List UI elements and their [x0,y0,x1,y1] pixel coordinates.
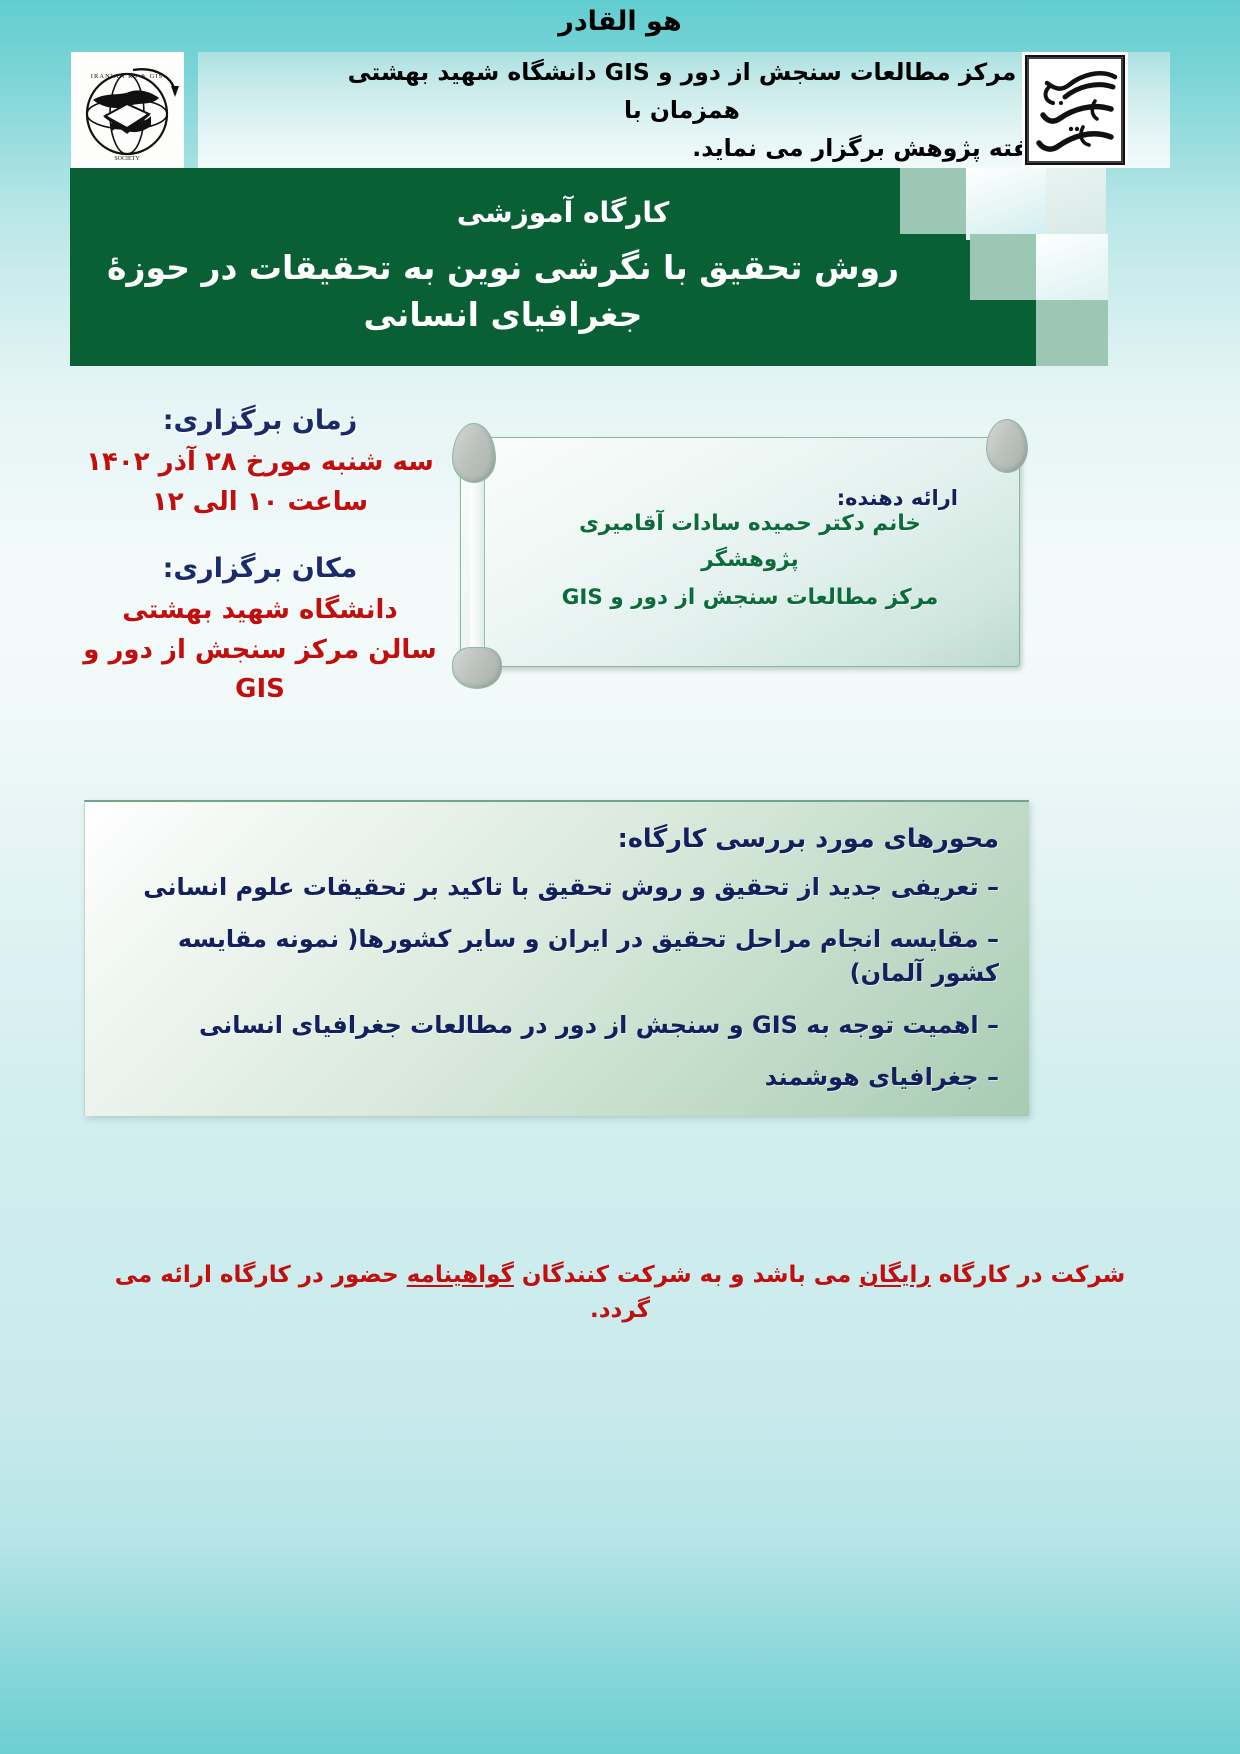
header-line-1: مرکز مطالعات سنجش از دور و GIS دانشگاه ش… [318,53,1046,129]
event-date: سه شنبه مورخ ۲۸ آذر ۱۴۰۲ [70,443,450,483]
schedule-block: زمان برگزاری: سه شنبه مورخ ۲۸ آذر ۱۴۰۲ س… [70,400,450,710]
decor-square-7 [1036,300,1108,366]
place-label: مکان برگزاری: [70,548,450,589]
presenter-organization: مرکز مطالعات سنجش از دور و GIS [498,579,1002,617]
nastaliq-calligraphy-icon [1027,57,1123,163]
header-announcement: مرکز مطالعات سنجش از دور و GIS دانشگاه ش… [312,52,1052,168]
decor-square-4 [970,234,1036,300]
topic-item: – اهمیت توجه به GIS و سنجش از دور در مطا… [115,1008,999,1042]
bismillah-text: هو القادر [0,6,1240,37]
workshop-title-block: کارگاه آموزشی روش تحقیق با نگرشی نوین به… [70,168,960,366]
time-label: زمان برگزاری: [70,400,450,441]
topic-item: – مقایسه انجام مراحل تحقیق در ایران و سا… [115,922,999,990]
topics-box: محورهای مورد بررسی کارگاه: – تعریفی جدید… [84,800,1029,1116]
presenter-info: ارائه دهنده: خانم دکتر حمیده سادات آقامی… [490,447,1002,655]
venue-line-2: سالن مرکز سنجش از دور و GIS [70,631,450,710]
topic-item: – جغرافیای هوشمند [115,1060,999,1094]
decor-square-6 [970,300,1036,366]
footer-free-word: رایگان [859,1262,930,1288]
university-logo-frame [1025,55,1125,165]
presenter-name: خانم دکتر حمیده سادات آقامیری [498,506,1002,541]
footer-note: شرکت در کارگاه رایگان می باشد و به شرکت … [0,1258,1240,1327]
workshop-kicker: کارگاه آموزشی [70,196,936,229]
iranian-rs-gis-society-logo: IRANIAN RS & GIS SOCIETY [71,52,184,168]
svg-text:SOCIETY: SOCIETY [114,156,140,162]
venue-line-1: دانشگاه شهید بهشتی [70,591,450,631]
decor-square-5 [1036,234,1108,300]
header-line-2: هفته پژوهش برگزار می نماید. [692,129,1046,167]
footer-part-1: شرکت در کارگاه [931,1262,1126,1288]
footer-part-2: می باشد و به شرکت کنندگان [514,1262,859,1288]
svg-text:IRANIAN RS & GIS: IRANIAN RS & GIS [91,73,163,80]
presenter-scroll: ارائه دهنده: خانم دکتر حمیده سادات آقامی… [450,415,1030,680]
event-hours: ساعت ۱۰ الی ۱۲ [70,483,450,523]
presenter-role: پژوهشگر [498,541,1002,579]
shahid-beheshti-university-logo [1022,52,1128,168]
decor-square-2 [966,168,1046,240]
workshop-title: روش تحقیق با نگرشی نوین به تحقیقات در حو… [70,245,936,339]
footer-certificate-word: گواهینامه [407,1262,514,1288]
globe-emblem-icon: IRANIAN RS & GIS SOCIETY [71,52,184,168]
decor-square-3 [1046,168,1106,234]
topic-item: – تعریفی جدید از تحقیق و روش تحقیق با تا… [115,870,999,904]
topics-title: محورهای مورد بررسی کارگاه: [115,824,999,854]
schedule-spacer [70,522,450,548]
